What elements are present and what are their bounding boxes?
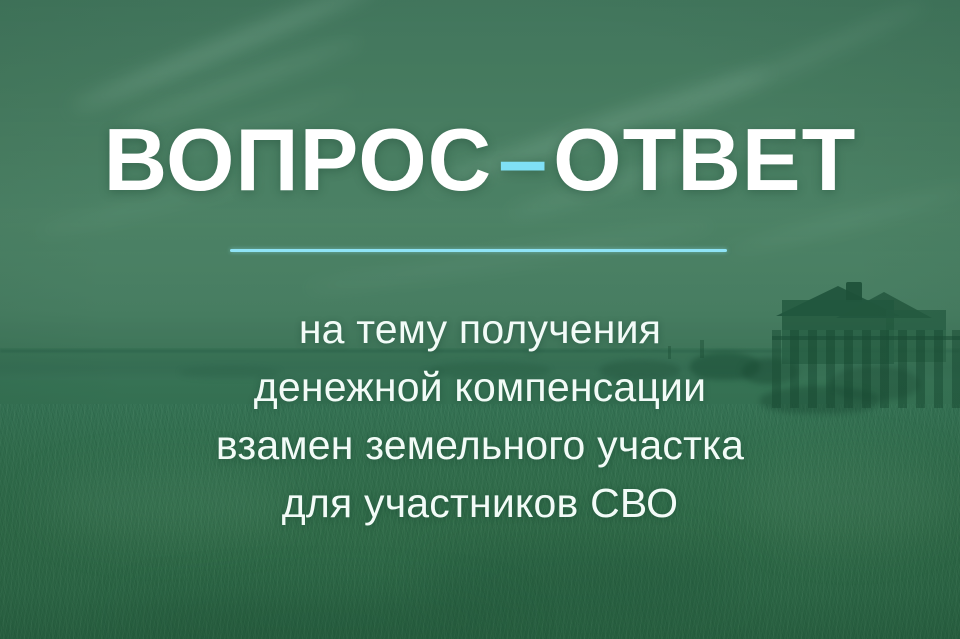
poster-canvas: ВОПРОС–ОТВЕТ на тему получения денежной … xyxy=(0,0,960,639)
headline-left-word: ВОПРОС xyxy=(104,110,493,209)
subtitle-line: денежной компенсации xyxy=(0,358,960,416)
headline-dash: – xyxy=(492,110,553,209)
subtitle-line: взамен земельного участка xyxy=(0,416,960,474)
poster-subtitle: на тему получения денежной компенсации в… xyxy=(0,300,960,532)
headline-divider-rule xyxy=(230,249,727,252)
headline-right-word: ОТВЕТ xyxy=(553,110,856,209)
subtitle-line: на тему получения xyxy=(0,300,960,358)
poster-content: ВОПРОС–ОТВЕТ на тему получения денежной … xyxy=(0,0,960,639)
poster-headline: ВОПРОС–ОТВЕТ xyxy=(0,116,960,204)
subtitle-line: для участников СВО xyxy=(0,474,960,532)
